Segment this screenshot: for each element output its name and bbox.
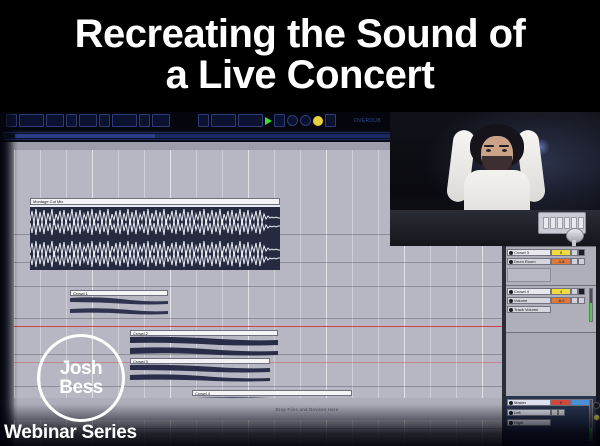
device-toggle-a[interactable] — [571, 297, 578, 304]
microphone-icon — [566, 228, 582, 246]
toolbar-transport[interactable] — [198, 115, 336, 126]
device-value-field[interactable]: -6.0 — [551, 297, 571, 304]
brand-logo: Josh Bess Webinar Series — [28, 334, 188, 446]
record-icon[interactable] — [287, 115, 298, 126]
device-toggle-a[interactable] — [571, 258, 578, 265]
waveform-icon — [70, 296, 168, 316]
brand-circle: Josh Bess — [37, 334, 125, 422]
device-activator-icon[interactable] — [509, 299, 513, 303]
toolbar-button-tempo[interactable] — [19, 114, 44, 127]
device-toggle-b[interactable] — [578, 297, 585, 304]
brand-subtitle: Webinar Series — [4, 422, 194, 444]
mixer-strip-crowd-3[interactable]: Crowd 3 5 Drum Room -1.8 — [506, 247, 596, 286]
device-name-label: Volume — [514, 298, 527, 303]
brand-name-line-1: Josh — [60, 359, 102, 378]
toolbar-button-metronome[interactable] — [66, 114, 77, 127]
device-name-field[interactable]: Volume — [507, 297, 551, 304]
mixer-empty-area[interactable] — [506, 333, 596, 397]
track-toggle-b[interactable] — [578, 288, 585, 295]
toolbar-button-signature[interactable] — [46, 114, 64, 127]
track-level-meter-fill — [590, 303, 592, 321]
presenter-eye-right — [502, 149, 507, 152]
track-toggle-a[interactable] — [571, 249, 578, 256]
promo-thumbnail: OVERDUB — [0, 0, 600, 446]
audio-clip-main[interactable]: Montage Cut Mix — [30, 198, 280, 270]
track-activator-icon[interactable] — [509, 251, 513, 255]
clip-waveform-body — [30, 205, 280, 270]
device-toggle-b[interactable] — [578, 258, 585, 265]
play-icon[interactable] — [265, 117, 272, 125]
toolbar-button-follow[interactable] — [99, 114, 110, 127]
track-name-field[interactable]: Crowd 4 — [507, 288, 551, 295]
track-name-label: Crowd 3 — [514, 250, 529, 255]
track-value-field[interactable]: 5 — [551, 249, 571, 256]
toolbar-button-loop-start[interactable] — [211, 114, 236, 127]
toolbar-button-arrangement-position[interactable] — [198, 114, 209, 127]
clip-title-bar[interactable]: Montage Cut Mix — [30, 198, 280, 205]
stop-button[interactable] — [274, 114, 285, 127]
toolbar-status-label: OVERDUB — [354, 118, 381, 124]
title-line-2: a Live Concert — [0, 55, 600, 96]
clip-waveform-body — [70, 296, 168, 316]
track-name-label: Crowd 4 — [514, 289, 529, 294]
device-value-field[interactable]: -1.8 — [551, 258, 571, 265]
track-name-field[interactable]: Crowd 3 — [507, 249, 551, 256]
device-activator-icon[interactable] — [509, 260, 513, 264]
toolbar-button-position[interactable] — [112, 114, 137, 127]
audio-clip-crowd-1[interactable]: Crowd 1 — [70, 290, 168, 316]
track-value-field[interactable]: 4 — [551, 288, 571, 295]
device-slot-empty[interactable] — [507, 268, 551, 282]
device2-name-label: Track Volume — [514, 307, 538, 312]
mixer-strip-crowd-4[interactable]: Crowd 4 4 Volume -6.0 — [506, 286, 596, 333]
title-line-1: Recreating the Sound of — [0, 14, 600, 55]
presenter-brow-right — [499, 145, 509, 147]
toolbar-left-controls[interactable] — [6, 115, 170, 126]
track-level-meter — [589, 288, 593, 322]
overview-selection[interactable] — [15, 134, 155, 138]
device2-activator-icon[interactable] — [509, 308, 513, 312]
track-toggle-a[interactable] — [571, 288, 578, 295]
toolbar-button-punch[interactable] — [152, 114, 170, 127]
device-name-field[interactable]: Drum Room — [507, 258, 551, 265]
toolbar-button-loop-length[interactable] — [238, 114, 263, 127]
presenter-brow-left — [484, 145, 494, 147]
device2-name-field[interactable]: Track Volume — [507, 306, 551, 313]
presenter-video-overlay — [390, 112, 600, 246]
track-activator-icon[interactable] — [509, 290, 513, 294]
brand-name-line-2: Bess — [59, 378, 102, 397]
toolbar-button-loop[interactable] — [139, 114, 150, 127]
page-title: Recreating the Sound of a Live Concert — [0, 14, 600, 96]
toolbar-button-midi-arm[interactable] — [325, 114, 336, 127]
toolbar-right-status: OVERDUB — [354, 115, 381, 126]
left-edge-fade — [0, 112, 18, 446]
presenter-eye-left — [486, 149, 491, 152]
waveform-icon — [30, 205, 280, 270]
toolbar-button-quantize[interactable] — [79, 114, 97, 127]
device-name-label: Drum Room — [514, 259, 536, 264]
overdub-icon[interactable] — [300, 115, 311, 126]
track-toggle-b[interactable] — [578, 249, 585, 256]
automation-arm-icon[interactable] — [313, 116, 323, 126]
